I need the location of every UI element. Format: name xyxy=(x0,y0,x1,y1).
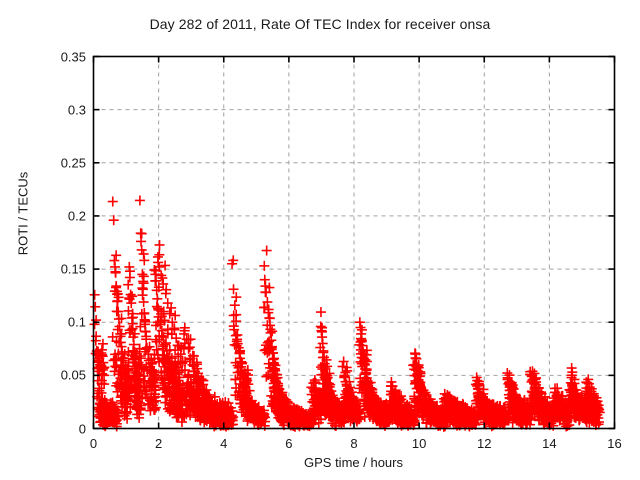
y-tick-label: 0 xyxy=(18,421,86,436)
y-tick-label: 0.2 xyxy=(18,208,86,223)
plot-canvas xyxy=(0,0,640,480)
x-tick-label: 10 xyxy=(412,436,426,451)
x-tick-label: 4 xyxy=(220,436,227,451)
x-tick-label: 12 xyxy=(477,436,491,451)
x-tick-label: 16 xyxy=(607,436,621,451)
x-tick-label: 14 xyxy=(542,436,556,451)
x-axis-label: GPS time / hours xyxy=(93,455,614,470)
y-tick-label: 0.3 xyxy=(18,102,86,117)
y-tick-label: 0.05 xyxy=(18,368,86,383)
x-tick-label: 8 xyxy=(350,436,357,451)
x-tick-label: 6 xyxy=(285,436,292,451)
y-tick-label: 0.25 xyxy=(18,155,86,170)
y-tick-label: 0.1 xyxy=(18,315,86,330)
roti-scatter-figure: Day 282 of 2011, Rate Of TEC Index for r… xyxy=(0,0,640,480)
x-tick-label: 0 xyxy=(90,436,97,451)
y-tick-label: 0.15 xyxy=(18,262,86,277)
y-tick-label: 0.35 xyxy=(18,49,86,64)
x-tick-label: 2 xyxy=(155,436,162,451)
